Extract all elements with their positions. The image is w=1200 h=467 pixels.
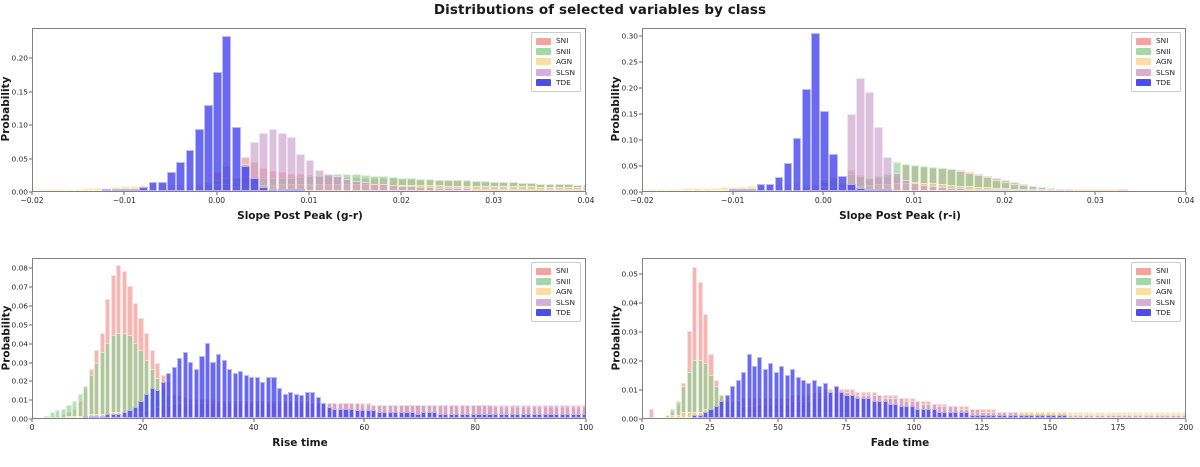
histogram-bar [84,188,93,191]
histogram-bar [1035,415,1040,418]
histogram-bar [138,401,143,418]
legend-item-tde[interactable]: TDE [536,78,575,88]
histogram-bar [692,360,697,418]
legend-item-agn[interactable]: AGN [536,57,575,67]
histogram-bar [100,352,105,418]
x-tick-label: 60 [360,423,370,432]
x-tick-label: 200 [1179,423,1194,432]
histogram-bar [50,412,55,418]
histogram-bar [404,412,409,418]
y-tick-mark [639,113,642,114]
legend-item-sni[interactable]: SNI [536,36,575,46]
panel-slope-post-peak-g-r: 0.000.050.100.150.20−0.02−0.010.000.010.… [0,14,600,240]
legend-swatch-icon [536,288,551,295]
y-tick-label: 0.20 [12,54,28,63]
histogram-bar [89,375,94,418]
legend-label: SLSN [556,299,575,306]
histogram-bar [983,189,992,191]
y-tick-mark [29,343,32,344]
histogram-bar [1056,189,1065,191]
legend-item-tde[interactable]: TDE [1136,78,1175,88]
histogram-bar [801,380,806,418]
y-tick-label: 0.10 [622,135,638,144]
legend-label: SLSN [1156,299,1175,306]
histogram-bar [1133,415,1138,418]
histogram-bar [260,382,265,418]
histogram-bar [527,189,536,191]
histogram-bar [186,150,195,191]
y-tick-label: 0.03 [12,358,28,367]
y-tick-label: 0.04 [12,339,28,348]
y-tick-mark [639,360,642,361]
histogram-bar [856,188,865,191]
histogram-bar [1008,415,1013,418]
legend-item-slsn[interactable]: SLSN [1136,297,1175,307]
plot-area [33,259,585,418]
histogram-bar [865,189,874,191]
histogram-bar [850,395,855,418]
histogram-bar [947,188,956,191]
x-tick-label: −0.01 [721,196,744,205]
y-tick-label: 0.25 [622,57,638,66]
histogram-bar [657,189,666,191]
histogram-bar [421,412,426,418]
histogram-bar [883,401,888,418]
y-tick-mark [639,35,642,36]
histogram-bar [747,354,752,418]
x-tick-label: 50 [773,423,783,432]
legend-label: AGN [1156,288,1172,295]
histogram-bar [1057,415,1062,418]
y-tick-label: 0.15 [12,87,28,96]
histogram-bar [953,412,958,418]
histogram-bar [785,375,790,419]
legend-item-slsn[interactable]: SLSN [536,297,575,307]
histogram-bar [266,377,271,418]
histogram-bar [310,392,315,418]
histogram-bar [687,412,692,418]
histogram-bar [55,410,60,418]
x-tick-mark [401,192,402,195]
histogram-bar [194,369,199,418]
histogram-bar [543,414,548,418]
histogram-bar [1138,415,1143,418]
histogram-bar [1074,189,1083,191]
y-tick-mark [29,381,32,382]
histogram-bar [555,189,564,191]
plot-area [643,29,1185,191]
histogram-bar [775,177,784,191]
histogram-bar [255,377,260,418]
histogram-bar [757,184,766,191]
x-tick-mark [586,419,587,422]
histogram-bar [1083,189,1092,191]
histogram-bar [111,414,116,418]
legend-swatch-icon [1136,38,1151,45]
x-tick-label: 0.03 [485,196,502,205]
histogram-bar [176,162,185,191]
histogram-bar [232,127,241,191]
y-tick-label: 0.05 [622,269,638,278]
x-tick-label: 0.04 [1178,196,1195,205]
legend-label: TDE [1156,309,1171,316]
histogram-bar [806,383,811,418]
x-tick-label: 150 [1043,423,1058,432]
histogram-bar [893,173,902,191]
legend-swatch-icon [536,278,551,285]
histogram-bar [407,186,416,191]
y-tick-label: 0.00 [12,415,28,424]
histogram-bar [78,416,83,418]
histogram-bar [811,33,820,191]
histogram-bar [435,188,444,191]
x-tick-label: −0.01 [113,196,136,205]
histogram-bar [959,412,964,418]
histogram-bar [371,410,376,418]
histogram-bar [444,188,453,191]
histogram-bar [94,363,99,418]
legend-swatch-icon [1136,58,1151,65]
histogram-bar [564,189,573,191]
histogram-bar [802,89,811,191]
histogram-bar [1182,415,1186,418]
legend-swatch-icon [536,309,551,316]
histogram-bar [259,187,268,191]
x-tick-mark [1004,192,1005,195]
legend-item-snii[interactable]: SNII [536,276,575,286]
histogram-bar [332,409,337,418]
histogram-bar [127,335,132,418]
legend-item-agn[interactable]: AGN [1136,57,1175,67]
histogram-bar [259,133,268,191]
y-tick-mark [639,61,642,62]
x-tick-mark [914,192,915,195]
histogram-bar [965,189,974,191]
histogram-bar [790,369,795,418]
histogram-bar [766,184,775,191]
histogram-bar [1165,415,1170,418]
y-tick-mark [29,324,32,325]
histogram-bar [554,414,559,418]
histogram-bar [698,360,703,418]
histogram-bar [1019,415,1024,418]
histogram-bar [929,186,938,191]
legend-label: SNI [1156,37,1168,44]
histogram-bar [921,409,926,418]
histogram-bar [1068,415,1073,418]
histogram-bar [269,129,278,191]
histogram-bar [370,184,379,191]
histogram-bar [249,377,254,418]
histogram-bar [454,414,459,418]
legend-item-sni[interactable]: SNI [1136,266,1175,276]
y-tick-mark [29,306,32,307]
legend-item-sni[interactable]: SNI [536,266,575,276]
histogram-bar [1029,415,1034,418]
histogram-bar [1111,415,1116,418]
legend-label: SNII [556,48,571,55]
histogram-bar [509,189,518,191]
x-tick-label: 0.03 [1087,196,1104,205]
histogram-bar [66,416,71,418]
panel-rise-time: 0.000.010.020.030.040.050.060.070.080204… [0,244,600,467]
histogram-bar [463,188,472,191]
histogram-bar [729,189,738,191]
histogram-bar [139,187,148,191]
legend[interactable]: SNISNIIAGNSLSNTDE [1131,32,1181,92]
histogram-bar [975,415,980,418]
y-tick-mark [29,268,32,269]
x-tick-mark [642,192,643,195]
histogram-bar [166,373,171,418]
histogram-bar [938,187,947,191]
histogram-bar [56,189,65,191]
x-tick-mark [142,419,143,422]
histogram-bar [747,189,756,191]
y-tick-mark [639,165,642,166]
histogram-bar [355,410,360,418]
panel-fade-time: 0.000.010.020.030.040.050255075100125150… [600,244,1200,467]
y-tick-mark [639,302,642,303]
histogram-bar [676,415,681,418]
histogram-bar [948,412,953,418]
x-tick-mark [124,192,125,195]
histogram-bar [379,184,388,191]
x-tick-label: 0.04 [578,196,595,205]
legend[interactable]: SNISNIIAGNSLSNTDE [531,262,581,322]
histogram-bar [997,415,1002,418]
histogram-bar [277,388,282,418]
histogram-bar [432,412,437,418]
histogram-bar [1106,415,1111,418]
histogram-bar [296,189,305,191]
histogram-bar [377,412,382,418]
histogram-bar [711,188,720,191]
legend-swatch-icon [1136,278,1151,285]
histogram-bar [932,409,937,418]
histogram-bar [548,414,553,418]
histogram-bar [675,189,684,191]
legend-swatch-icon [536,48,551,55]
legend-item-tde[interactable]: TDE [1136,308,1175,318]
histogram-bar [681,412,686,418]
histogram-bar [1092,189,1101,191]
histogram-bar [283,394,288,418]
histogram-bar [546,189,555,191]
histogram-bar [571,414,576,418]
histogram-bar [763,369,768,418]
histogram-bar [980,415,985,418]
y-tick-mark [29,158,32,159]
histogram-bar [493,414,498,418]
x-tick-mark [914,419,915,422]
legend-swatch-icon [1136,309,1151,316]
histogram-bar [287,189,296,191]
histogram-bar [725,395,730,418]
histogram-bar [1149,415,1154,418]
histogram-bar [648,189,657,191]
histogram-bar [670,415,675,418]
histogram-bar [333,176,342,191]
histogram-bar [1001,189,1010,191]
histogram-bar [443,414,448,418]
histogram-bar [911,183,920,191]
histogram-bar [692,415,697,418]
histogram-bar [847,114,856,191]
x-tick-label: −0.02 [20,196,43,205]
x-tick-mark [364,419,365,422]
x-tick-mark [32,192,33,195]
histogram-bar [122,333,127,418]
legend-swatch-icon [536,79,551,86]
histogram-bar [296,154,305,191]
histogram-bar [199,356,204,418]
histogram-bar [752,366,757,418]
plot-axes [32,258,586,419]
histogram-bar [195,129,204,191]
y-tick-label: 0.05 [622,161,638,170]
x-tick-label: 0 [30,423,35,432]
histogram-bar [66,189,75,191]
plot-axes [642,28,1186,192]
histogram-bar [100,416,105,418]
histogram-bar [1029,189,1038,191]
histogram-bar [883,157,892,191]
x-tick-mark [475,419,476,422]
legend-label: SNII [1156,48,1171,55]
histogram-bar [393,412,398,418]
histogram-bar [576,414,581,418]
histogram-bar [188,362,193,418]
histogram-bar [366,410,371,418]
y-tick-label: 0.05 [12,320,28,329]
histogram-bar [238,371,243,418]
x-tick-mark [253,419,254,422]
y-tick-label: 0.15 [622,109,638,118]
histogram-bar [75,189,84,191]
legend-swatch-icon [536,69,551,76]
histogram-bar [410,412,415,418]
histogram-bar [757,357,762,418]
histogram-bar [1127,415,1132,418]
histogram-bar [768,363,773,418]
histogram-bar [471,414,476,418]
legend-item-snii[interactable]: SNII [1136,276,1175,286]
y-tick-label: 0.01 [622,385,638,394]
histogram-bar [338,409,343,418]
panel-slope-post-peak-r-i: 0.000.050.100.150.200.250.30−0.02−0.010.… [600,14,1200,240]
legend[interactable]: SNISNIIAGNSLSNTDE [1131,262,1181,322]
legend-item-agn[interactable]: AGN [1136,287,1175,297]
histogram-bar [684,188,693,191]
histogram-bar [582,414,586,418]
histogram-bar [1116,415,1121,418]
histogram-bar [1110,189,1119,191]
x-tick-label: 0.00 [208,196,225,205]
x-axis-label: Fade time [600,437,1200,449]
histogram-bar [1084,415,1089,418]
y-tick-label: 0.02 [622,356,638,365]
histogram-bar [204,105,213,191]
y-tick-label: 0.03 [622,327,638,336]
histogram-bar [1047,189,1056,191]
legend[interactable]: SNISNIIAGNSLSNTDE [531,32,581,92]
histogram-bar [970,415,975,418]
histogram-bar [244,375,249,418]
y-tick-mark [29,287,32,288]
legend-item-snii[interactable]: SNII [536,46,575,56]
y-tick-mark [29,58,32,59]
histogram-bar [839,392,844,418]
legend-item-slsn[interactable]: SLSN [1136,67,1175,77]
histogram-bar [714,406,719,418]
histogram-bar [1119,189,1128,191]
x-tick-mark [846,419,847,422]
x-tick-label: 175 [1111,423,1126,432]
legend-item-slsn[interactable]: SLSN [536,67,575,77]
legend-item-sni[interactable]: SNI [1136,36,1175,46]
histogram-bar [227,369,232,418]
y-tick-label: 0.20 [622,83,638,92]
histogram-bar [315,170,324,191]
legend-item-tde[interactable]: TDE [536,308,575,318]
histogram-bar [937,412,942,418]
histogram-bar [288,392,293,418]
histogram-bar [269,189,278,191]
histogram-bar [250,178,259,191]
histogram-bar [278,189,287,191]
histogram-bar [271,377,276,418]
x-tick-mark [1186,192,1187,195]
histogram-bar [241,166,250,191]
histogram-bar [177,358,182,418]
x-tick-label: 0.02 [393,196,410,205]
histogram-bar [665,415,670,418]
legend-swatch-icon [1136,299,1151,306]
y-axis-label: Probability [0,257,12,418]
y-axis-label: Probability [610,27,622,191]
histogram-bar [974,189,983,191]
histogram-bar [793,138,802,191]
histogram-bar [1176,415,1181,418]
x-tick-label: −0.02 [630,196,653,205]
legend-item-agn[interactable]: AGN [536,287,575,297]
legend-swatch-icon [536,58,551,65]
histogram-bar [327,407,332,418]
histogram-bar [812,380,817,418]
legend-item-snii[interactable]: SNII [1136,46,1175,56]
histogram-bar [560,414,565,418]
histogram-bar [874,189,883,191]
histogram-bar [93,188,102,191]
histogram-bar [465,414,470,418]
x-tick-mark [1186,419,1187,422]
histogram-bar [865,92,874,191]
legend-swatch-icon [536,268,551,275]
histogram-bar [1024,415,1029,418]
histogram-bar [828,392,833,418]
x-tick-mark [309,192,310,195]
histogram-bar [1051,415,1056,418]
histogram-bar [449,414,454,418]
histogram-bar [1013,415,1018,418]
x-tick-mark [710,419,711,422]
x-tick-label: 100 [907,423,922,432]
histogram-bar [1038,189,1047,191]
x-tick-label: 0.01 [906,196,923,205]
histogram-bar [210,362,215,418]
legend-label: TDE [556,309,571,316]
